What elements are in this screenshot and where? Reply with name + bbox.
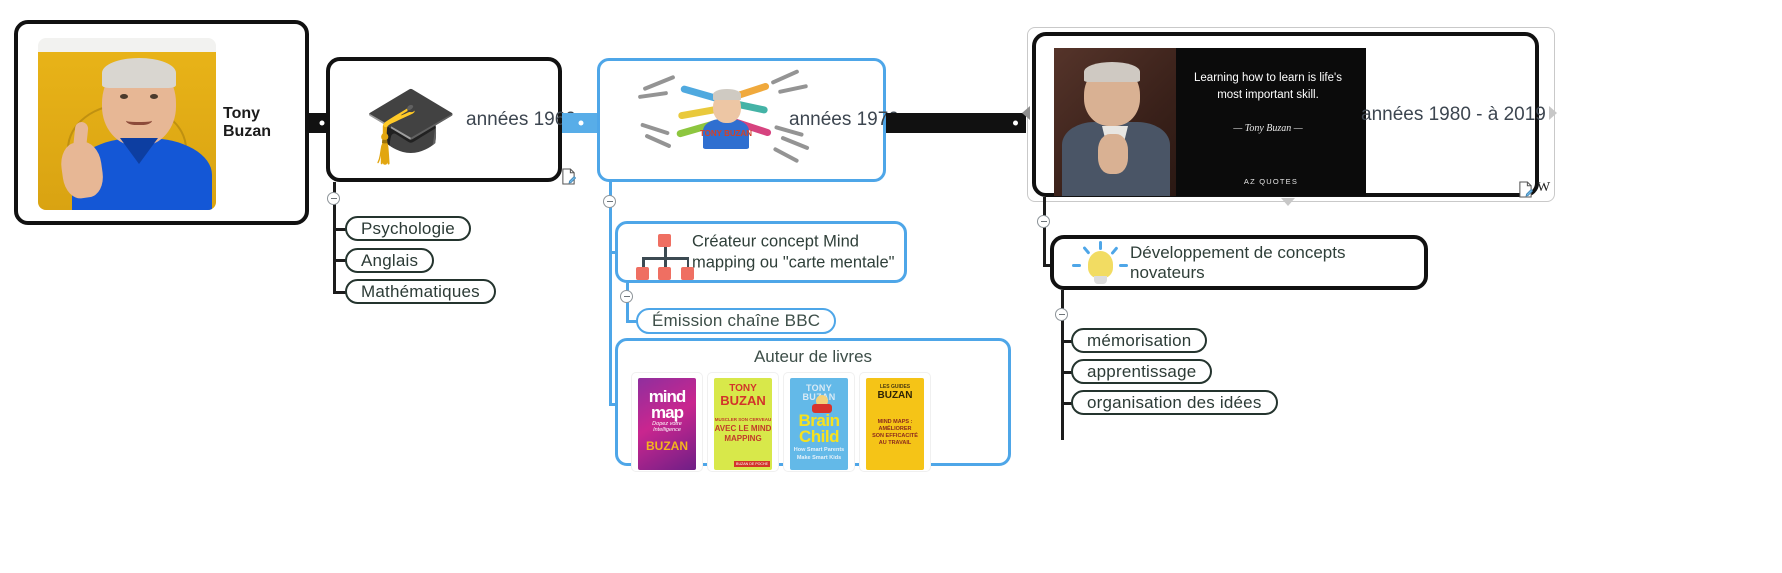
book3-sub2: Make Smart Kids <box>790 456 848 462</box>
period-node-1960[interactable]: 🎓 années 1960 <box>326 57 562 182</box>
connector-1970-to-1980 <box>886 113 1026 133</box>
collapse-toggle-1960[interactable] <box>327 192 340 205</box>
period-label-1960: années 1960 <box>466 109 576 131</box>
org-chart-icon <box>634 234 696 290</box>
stem-1980-vertical <box>1043 197 1046 265</box>
mini-map-center-label: TONY BUZAN <box>699 129 753 138</box>
book4-top2: BUZAN <box>866 391 924 401</box>
note-edit-icon-1980[interactable] <box>1518 181 1533 198</box>
book3-line2: Child <box>790 428 848 445</box>
stem-1970-vertical <box>609 182 612 404</box>
book-card[interactable]: mind map Dopez votre Intelligence BUZAN <box>632 373 702 471</box>
wikipedia-icon[interactable]: W <box>1537 180 1550 196</box>
node-developpement-concepts-novateurs[interactable]: Développement de concepts novateurs <box>1050 235 1428 290</box>
concept-node-line2: mapping ou "carte mentale" <box>692 252 895 273</box>
period-node-1980[interactable]: Learning how to learn is life's most imp… <box>1032 32 1539 197</box>
note-edit-icon-1960[interactable] <box>561 168 576 185</box>
book4-body1: MIND MAPS : <box>866 420 924 426</box>
dev-concepts-label: Développement de concepts novateurs <box>1130 243 1424 283</box>
leaf-apprentissage[interactable]: apprentissage <box>1071 359 1212 384</box>
leaf-psychologie[interactable]: Psychologie <box>345 216 471 241</box>
muscler-son-cerveau-cover: TONY BUZAN MUSCLER SON CERVEAU AVEC LE M… <box>714 378 772 470</box>
lightbulb-icon <box>1072 245 1128 289</box>
book1-author: BUZAN <box>638 440 696 452</box>
leaf-memorisation[interactable]: mémorisation <box>1071 328 1207 353</box>
brain-child-cover: TONY BUZAN Brain Child How Smart Parents… <box>790 378 848 470</box>
collapse-toggle-concept[interactable] <box>620 290 633 303</box>
book-card[interactable]: LES GUIDES BUZAN MIND MAPS : AMÉLIORER S… <box>860 373 930 471</box>
leaf-anglais[interactable]: Anglais <box>345 248 434 273</box>
collapse-toggle-dev[interactable] <box>1055 308 1068 321</box>
book2-sub1: MUSCLER SON CERVEAU <box>714 418 772 423</box>
book2-top2: BUZAN <box>714 394 772 407</box>
graduation-cap-icon: 🎓 <box>352 71 470 179</box>
quote-brand: AZ QUOTES <box>1176 177 1366 186</box>
selection-handle-right-icon[interactable] <box>1549 106 1557 120</box>
mind-map-canvas: Tony Buzan 🎓 années 1960 Psychologie Ang… <box>0 0 1782 573</box>
leaf-organisation-des-idees[interactable]: organisation des idées <box>1071 390 1278 415</box>
connector-1960-to-1970 <box>562 113 600 133</box>
panel-auteur-de-livres[interactable]: Auteur de livres mind map Dopez votre In… <box>615 338 1011 466</box>
mind-maps-travail-cover: LES GUIDES BUZAN MIND MAPS : AMÉLIORER S… <box>866 378 924 470</box>
node-createur-concept-mind-mapping[interactable]: Créateur concept Mind mapping ou "carte … <box>615 221 907 283</box>
quote-text: Learning how to learn is life's most imp… <box>1186 70 1350 103</box>
book-card[interactable]: TONY BUZAN Brain Child How Smart Parents… <box>784 373 854 471</box>
quote-author: — Tony Buzan — <box>1186 123 1350 134</box>
book2-sub2: AVEC LE MIND <box>714 425 772 433</box>
book-card[interactable]: TONY BUZAN MUSCLER SON CERVEAU AVEC LE M… <box>708 373 778 471</box>
quote-image: Learning how to learn is life's most imp… <box>1054 48 1366 196</box>
book4-body2: AMÉLIORER <box>866 427 924 433</box>
book2-badge: BUZAN DE POCHE <box>734 461 770 467</box>
selection-handle-bottom-icon[interactable] <box>1281 198 1295 206</box>
book4-body3: SON EFFICACITÉ <box>866 434 924 440</box>
period-node-1970[interactable]: TONY BUZAN années 1970 <box>597 58 886 182</box>
leaf-mathematiques[interactable]: Mathématiques <box>345 279 496 304</box>
period-label-1970: années 1970 <box>789 109 899 131</box>
book1-sub: Dopez votre Intelligence <box>638 422 696 433</box>
books-row: mind map Dopez votre Intelligence BUZAN … <box>632 373 930 471</box>
concept-node-line1: Créateur concept Mind <box>692 231 895 252</box>
collapse-toggle-1980[interactable] <box>1037 215 1050 228</box>
book4-body4: AU TRAVAIL <box>866 441 924 447</box>
root-node-tony-buzan[interactable]: Tony Buzan <box>14 20 309 225</box>
period-label-1980: années 1980 - à 2019 <box>1361 104 1546 126</box>
books-panel-title: Auteur de livres <box>618 347 1008 367</box>
book1-line2: map <box>638 404 696 421</box>
tony-buzan-photo <box>38 38 216 210</box>
leaf-emission-chaine-bbc[interactable]: Émission chaîne BBC <box>636 308 836 334</box>
mind-map-buzan-cover: mind map Dopez votre Intelligence BUZAN <box>638 378 696 470</box>
selection-handle-left-icon[interactable] <box>1022 106 1030 120</box>
book2-sub3: MAPPING <box>714 435 772 443</box>
root-node-label: Tony Buzan <box>223 105 305 141</box>
collapse-toggle-1970[interactable] <box>603 195 616 208</box>
book3-sub1: How Smart Parents <box>790 448 848 454</box>
